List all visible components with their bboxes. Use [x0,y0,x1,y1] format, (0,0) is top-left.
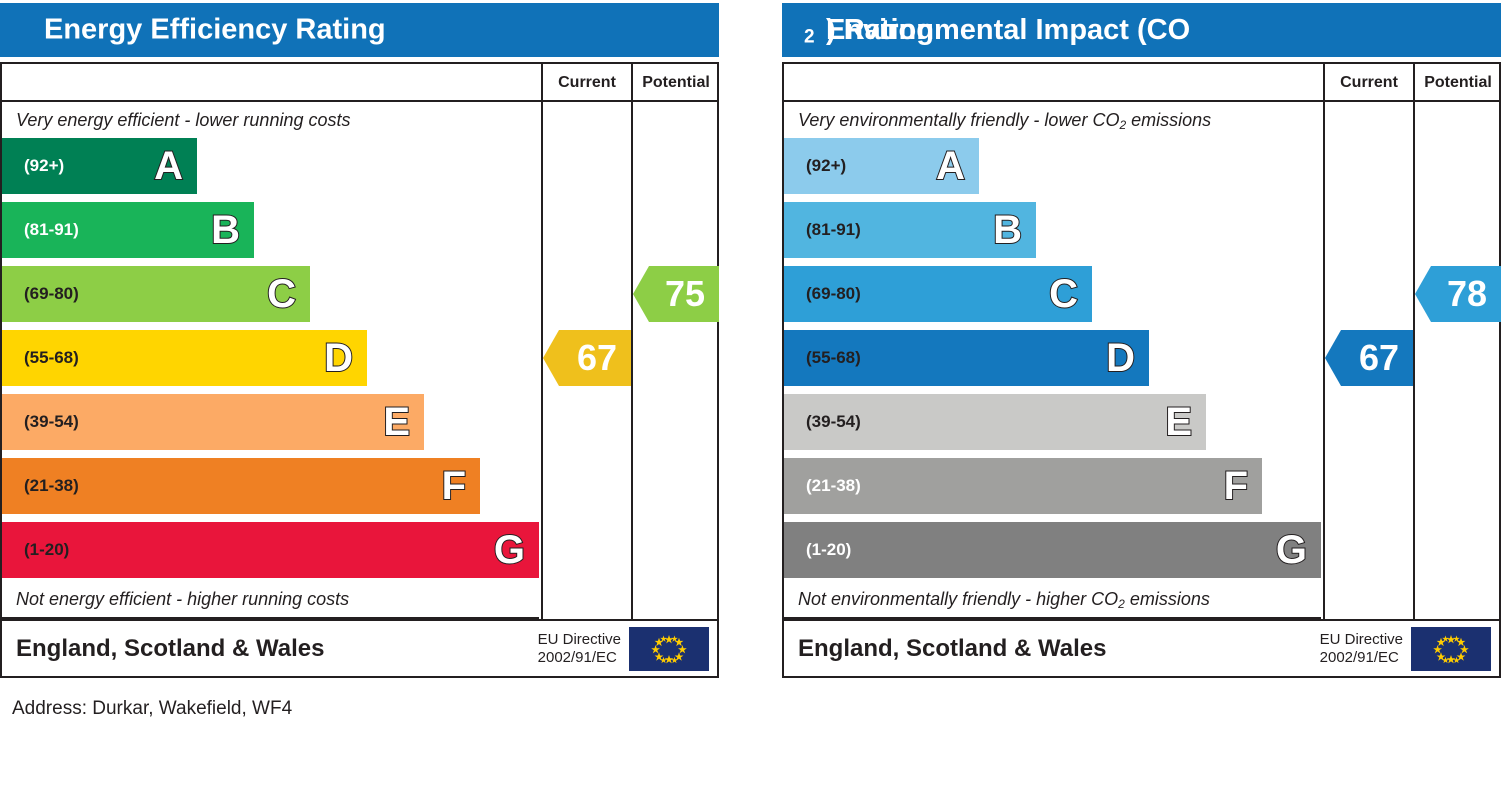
band-letter: A [154,146,183,186]
band-row: (69-80) C [2,266,310,322]
band-letter: G [1276,530,1307,570]
chart-table-energy: Current Potential Very energy efficient … [0,62,719,678]
environmental-impact-co2-rating-chart: Environmental Impact (CO2) Rating Curren… [782,0,1501,678]
column-header-current-co2: Current [1325,64,1413,102]
chart-table-co2: Current Potential Very environmentally f… [782,62,1501,678]
band-range: (81-91) [24,220,79,240]
band-letter: D [1106,338,1135,378]
chart-title-co2: Environmental Impact (CO2) Rating [804,14,815,47]
band-letter: E [1165,402,1192,442]
eu-directive-text-co2: EU Directive 2002/91/EC [1320,631,1403,667]
potential-rating-arrow-energy: 75 [633,266,719,322]
band-range: (1-20) [806,540,851,560]
band-letter: G [494,530,525,570]
band-list-energy: (92+) A (81-91) B (69-80) C (55-68) D (3… [2,138,539,581]
band-row: (21-38) F [784,458,1262,514]
chart-title-bar-energy: Energy Efficiency Rating [0,3,719,57]
band-letter: F [442,466,466,506]
band-row: (69-80) C [784,266,1092,322]
band-row: (81-91) B [2,202,254,258]
eu-directive-line1: EU Directive [1320,631,1403,649]
eu-directive-line2: 2002/91/EC [538,649,621,667]
band-range: (69-80) [806,284,861,304]
column-header-row-co2: Current Potential [784,64,1499,102]
current-rating-value-energy: 67 [577,340,631,376]
eu-flag-icon [629,627,709,671]
band-range: (69-80) [24,284,79,304]
band-range: (81-91) [806,220,861,240]
current-rating-arrow-co2: 67 [1325,330,1413,386]
band-letter: A [936,146,965,186]
chart-footer-co2: England, Scotland & Wales EU Directive 2… [784,619,1499,676]
energy-efficiency-rating-chart: Energy Efficiency Rating Current Potenti… [0,0,719,678]
caption-bottom-co2: Not environmentally friendly - higher CO… [784,581,1321,617]
column-divider-2-energy [631,64,633,619]
band-letter: E [383,402,410,442]
current-rating-arrow-energy: 67 [543,330,631,386]
address-label: Address: Durkar, Wakefield, WF4 [12,698,292,720]
eu-directive-line2: 2002/91/EC [1320,649,1403,667]
band-range: (92+) [24,156,64,176]
band-list-co2: (92+) A (81-91) B (69-80) C (55-68) D (3… [784,138,1321,581]
eu-directive-line1: EU Directive [538,631,621,649]
band-range: (39-54) [806,412,861,432]
band-range: (21-38) [806,476,861,496]
column-divider-1-energy [541,64,543,619]
current-rating-value-co2: 67 [1359,340,1413,376]
chart-title-bar-co2: Environmental Impact (CO2) Rating [782,3,1501,57]
footer-region-title-energy: England, Scotland & Wales [16,635,324,663]
column-divider-1-co2 [1323,64,1325,619]
band-row: (92+) A [784,138,979,194]
column-divider-2-co2 [1413,64,1415,619]
eu-directive-text-energy: EU Directive 2002/91/EC [538,631,621,667]
eu-flag-icon [1411,627,1491,671]
band-range: (39-54) [24,412,79,432]
potential-rating-value-energy: 75 [665,276,719,312]
potential-rating-arrow-co2: 78 [1415,266,1501,322]
chart-title-subscript: 2 [804,27,815,48]
chart-footer-energy: England, Scotland & Wales EU Directive 2… [2,619,717,676]
caption-top-co2: Very environmentally friendly - lower CO… [784,102,1321,138]
band-row: (1-20) G [2,522,539,578]
band-letter: F [1224,466,1248,506]
band-row: (39-54) E [784,394,1206,450]
band-row: (21-38) F [2,458,480,514]
band-range: (55-68) [806,348,861,368]
column-header-row-energy: Current Potential [2,64,717,102]
band-letter: C [267,274,296,314]
caption-subscript: 2 [1118,597,1125,611]
band-letter: C [1049,274,1078,314]
band-letter: D [324,338,353,378]
caption-bottom-energy: Not energy efficient - higher running co… [2,581,539,617]
caption-top-energy: Very energy efficient - lower running co… [2,102,539,138]
band-row: (39-54) E [2,394,424,450]
band-range: (21-38) [24,476,79,496]
band-range: (1-20) [24,540,69,560]
column-header-current-energy: Current [543,64,631,102]
footer-region-title-co2: England, Scotland & Wales [798,635,1106,663]
potential-rating-value-co2: 78 [1447,276,1501,312]
band-row: (81-91) B [784,202,1036,258]
column-header-potential-energy: Potential [633,64,719,102]
band-row: (55-68) D [784,330,1149,386]
band-row: (1-20) G [784,522,1321,578]
band-range: (55-68) [24,348,79,368]
band-row: (92+) A [2,138,197,194]
band-letter: B [211,210,240,250]
caption-subscript: 2 [1119,118,1126,132]
band-range: (92+) [806,156,846,176]
column-header-potential-co2: Potential [1415,64,1501,102]
band-letter: B [993,210,1022,250]
band-row: (55-68) D [2,330,367,386]
